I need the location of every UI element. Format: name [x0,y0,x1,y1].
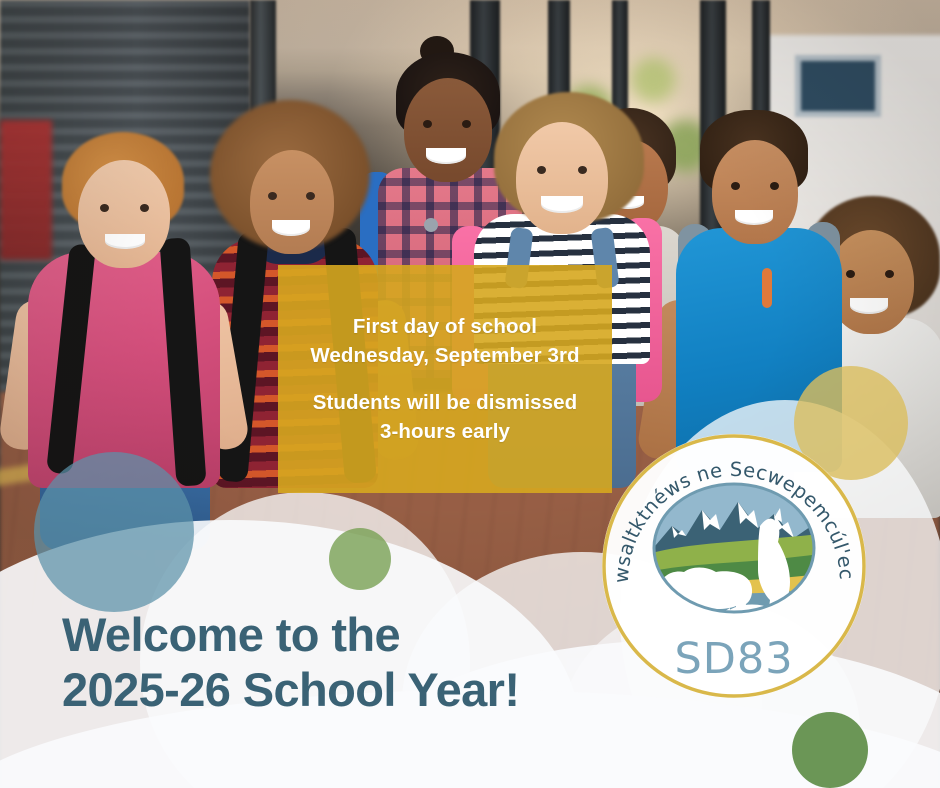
red-bench [0,120,52,260]
sd83-logo: Ḱwsaltktnéws ne Secwepemcúl'ecw SD83 [598,430,870,702]
callout-line-4: 3-hours early [313,417,578,446]
headline-line-1: Welcome to the [62,608,519,663]
logo-wordmark: SD83 [598,634,870,684]
callout-line-3: Students will be dismissed [313,388,578,417]
callout-line-1: First day of school [310,312,579,341]
headline-line-2: 2025-26 School Year! [62,663,519,718]
green-circle-bottom-right [792,712,868,788]
poster-canvas: First day of school Wednesday, September… [0,0,940,788]
blue-circle-large [34,452,194,612]
callout-group-dismissal: Students will be dismissed 3-hours early [313,388,578,446]
callout-line-2: Wednesday, September 3rd [310,341,579,370]
announcement-callout: First day of school Wednesday, September… [278,265,612,493]
page-title: Welcome to the 2025-26 School Year! [62,608,519,718]
green-circle-small [329,528,391,590]
far-window [795,55,881,117]
callout-group-first-day: First day of school Wednesday, September… [310,312,579,370]
